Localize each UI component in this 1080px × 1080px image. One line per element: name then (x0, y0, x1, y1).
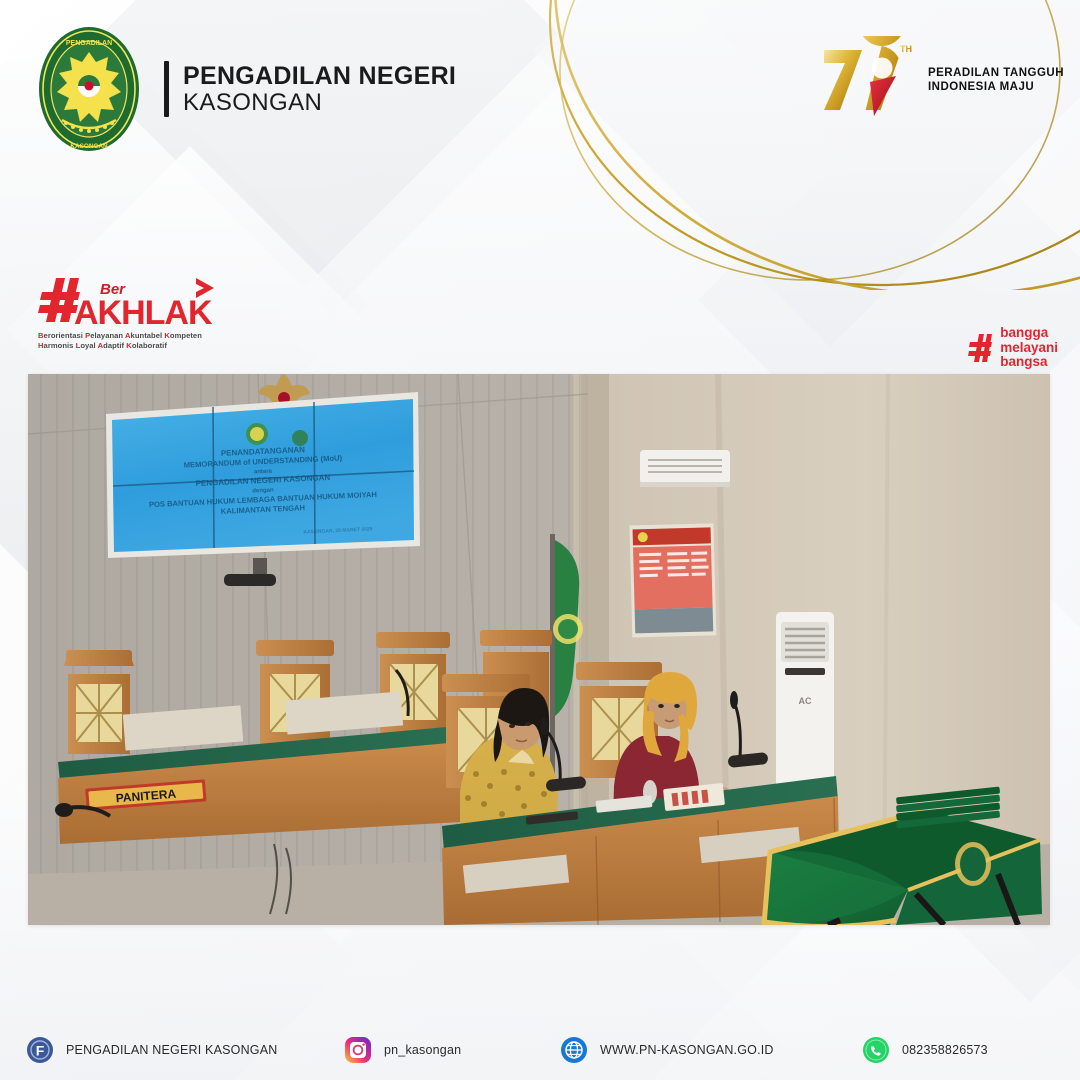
bmb-line-1: bangga (1000, 326, 1058, 341)
svg-text:PENGADILAN: PENGADILAN (66, 40, 112, 47)
footer-facebook[interactable]: F PENGADILAN NEGERI KASONGAN (26, 1036, 278, 1064)
berakhlak-logo: Ber AKHLAK Berorientasi Pelayanan Akunta… (38, 272, 238, 351)
bmb-line-3: bangsa (1000, 355, 1058, 370)
svg-text:antara: antara (254, 469, 273, 476)
anniversary-tagline-line1: PERADILAN TANGGUH (928, 67, 1064, 81)
footer-facebook-label: PENGADILAN NEGERI KASONGAN (66, 1043, 278, 1057)
svg-text:AC: AC (799, 696, 812, 706)
instagram-icon[interactable] (344, 1036, 372, 1064)
anniversary-79-icon: TH (812, 36, 920, 126)
footer-website[interactable]: WWW.PN-KASONGAN.GO.ID (560, 1036, 774, 1064)
title-divider-bar (164, 61, 169, 117)
footer-contact-bar: F PENGADILAN NEGERI KASONGAN pn_kasongan (0, 1020, 1080, 1080)
svg-text:F: F (36, 1043, 45, 1059)
svg-text:dengan: dengan (252, 488, 274, 495)
whatsapp-icon[interactable] (862, 1036, 890, 1064)
page-title-primary: PENGADILAN NEGERI (183, 62, 456, 90)
courtroom-photo-illustration: PENANDATANGANAN MEMORANDUM of UNDERSTAND… (28, 374, 1050, 925)
berakhlak-wordmark-icon: Ber AKHLAK (38, 272, 223, 328)
berakhlak-tagline: Berorientasi Pelayanan Akuntabel Kompete… (38, 331, 238, 351)
footer-whatsapp-label: 082358826573 (902, 1043, 988, 1057)
event-photo: PENANDATANGANAN MEMORANDUM of UNDERSTAND… (28, 374, 1050, 925)
svg-text:TH: TH (900, 44, 912, 54)
anniversary-logo: TH PERADILAN TANGGUH INDONESIA MAJU (812, 36, 1064, 126)
bangga-melayani-bangsa-logo: bangga melayani bangsa (968, 326, 1058, 370)
page-title-secondary: KASONGAN (183, 90, 456, 117)
svg-text:KASONGAN: KASONGAN (70, 143, 108, 150)
bmb-hash-icon (968, 333, 994, 363)
facebook-icon[interactable]: F (26, 1036, 54, 1064)
bmb-line-2: melayani (1000, 341, 1058, 356)
footer-whatsapp[interactable]: 082358826573 (862, 1036, 988, 1064)
footer-instagram-label: pn_kasongan (384, 1043, 461, 1057)
anniversary-tagline-line2: INDONESIA MAJU (928, 81, 1064, 95)
footer-website-label: WWW.PN-KASONGAN.GO.ID (600, 1043, 774, 1057)
svg-text:AKHLAK: AKHLAK (74, 294, 213, 328)
header: PENGADILAN KASONGAN PENGADILAN NEGERI KA… (36, 24, 456, 154)
poster-canvas: PENGADILAN KASONGAN PENGADILAN NEGERI KA… (0, 0, 1080, 1080)
court-crest-icon: PENGADILAN KASONGAN (36, 24, 142, 154)
website-globe-icon[interactable] (560, 1036, 588, 1064)
footer-instagram[interactable]: pn_kasongan (344, 1036, 461, 1064)
header-title-group: PENGADILAN NEGERI KASONGAN (164, 61, 456, 117)
